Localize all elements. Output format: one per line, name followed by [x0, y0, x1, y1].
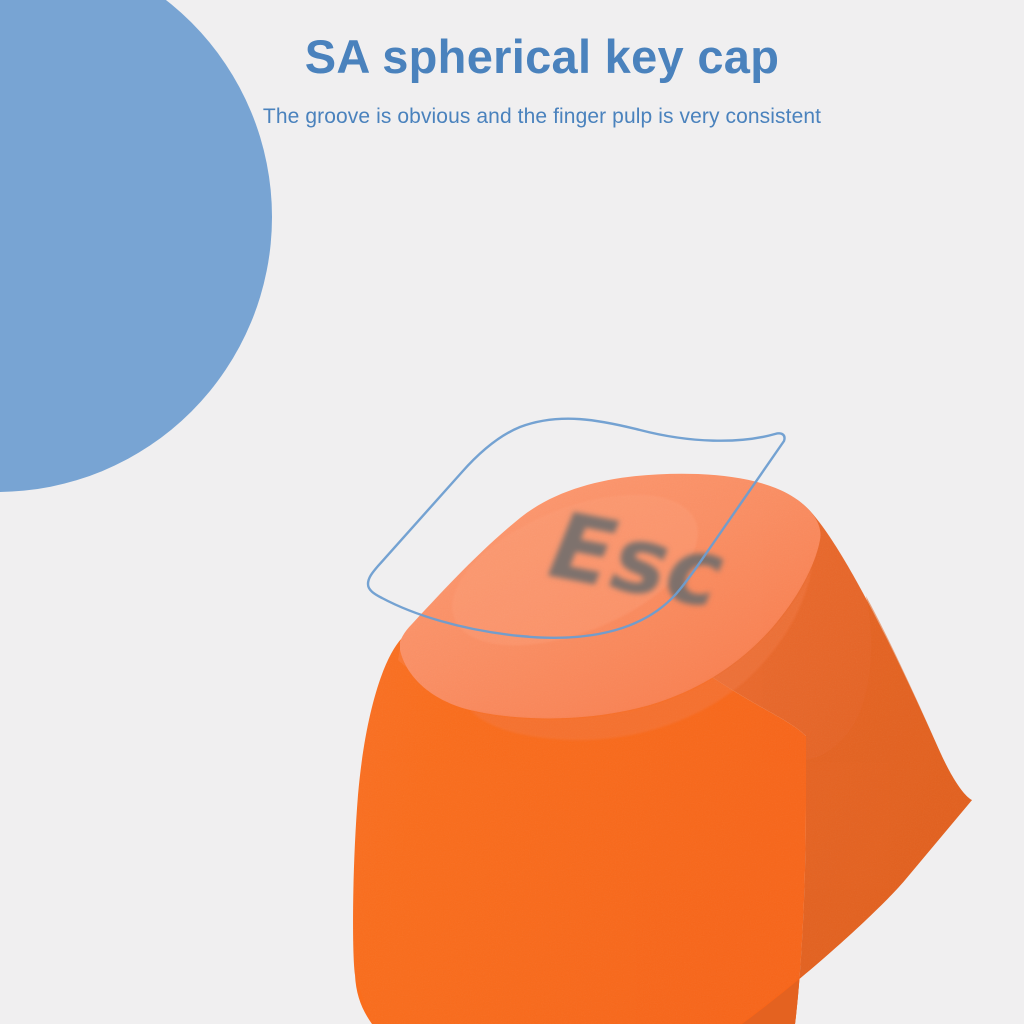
product-promo-image: SA spherical key cap The groove is obvio… — [0, 0, 1024, 1024]
page-subtitle: The groove is obvious and the finger pul… — [0, 84, 1024, 129]
keycap-illustration: Esc — [0, 0, 1024, 1024]
header-block: SA spherical key cap The groove is obvio… — [0, 0, 1024, 129]
page-title: SA spherical key cap — [0, 0, 1024, 84]
